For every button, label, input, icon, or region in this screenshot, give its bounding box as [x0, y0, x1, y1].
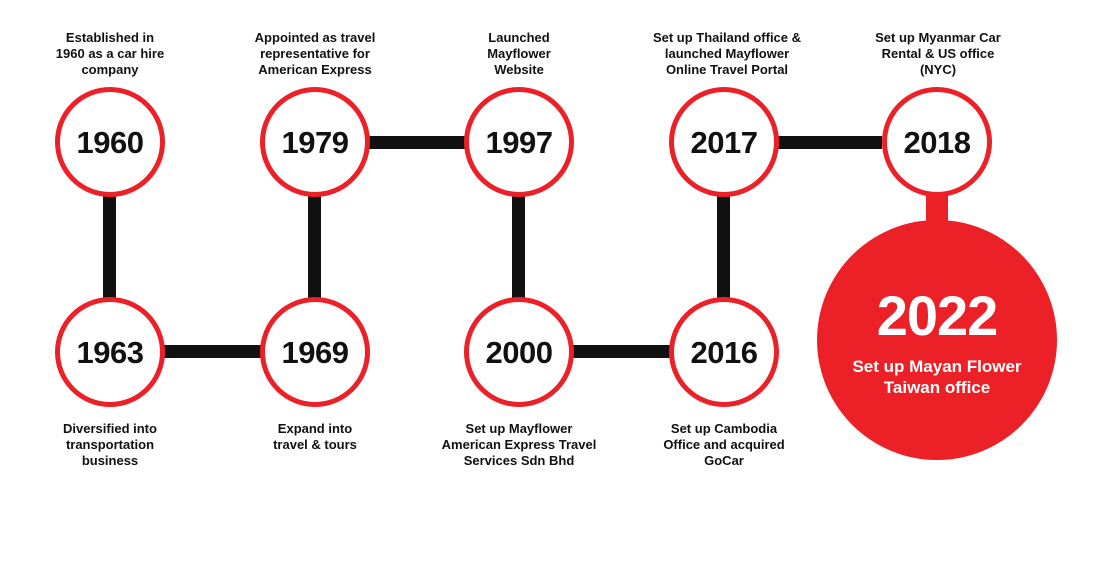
milestone-caption-1960: Established in 1960 as a car hire compan… [25, 30, 195, 78]
timeline-graphic: Established in 1960 as a car hire compan… [0, 0, 1106, 574]
milestone-caption-1979: Appointed as travel representative for A… [228, 30, 402, 78]
milestone-year-1979: 1979 [282, 127, 349, 158]
milestone-node-1979[interactable]: 1979 [260, 87, 370, 197]
milestone-node-1969[interactable]: 1969 [260, 297, 370, 407]
milestone-year-1960: 1960 [77, 127, 144, 158]
milestone-node-2016[interactable]: 2016 [669, 297, 779, 407]
connector-2016-2017 [717, 196, 730, 308]
milestone-year-2000: 2000 [486, 337, 553, 368]
milestone-caption-2016: Set up Cambodia Office and acquired GoCa… [634, 421, 814, 469]
connector-1960-1963 [103, 196, 116, 308]
milestone-caption-1963: Diversified into transportation business [25, 421, 195, 469]
connector-1969-1979 [308, 196, 321, 308]
milestone-node-1997[interactable]: 1997 [464, 87, 574, 197]
milestone-node-2017[interactable]: 2017 [669, 87, 779, 197]
milestone-year-1969: 1969 [282, 337, 349, 368]
milestone-caption-2000: Set up Mayflower American Express Travel… [424, 421, 614, 469]
connector-2017-2018 [776, 136, 882, 149]
milestone-year-2022: 2022 [877, 288, 998, 344]
milestone-node-1963[interactable]: 1963 [55, 297, 165, 407]
connector-1997-2000 [512, 196, 525, 308]
milestone-year-1963: 1963 [77, 337, 144, 368]
connector-1979-1997 [366, 136, 472, 149]
milestone-node-2018[interactable]: 2018 [882, 87, 992, 197]
milestone-caption-1969: Expand into travel & tours [230, 421, 400, 453]
milestone-caption-1997: Launched Mayflower Website [434, 30, 604, 78]
milestone-node-1960[interactable]: 1960 [55, 87, 165, 197]
connector-1963-1969 [162, 345, 266, 358]
milestone-caption-2018: Set up Myanmar Car Rental & US office (N… [848, 30, 1028, 78]
milestone-caption-2022: Set up Mayan Flower Taiwan office [836, 356, 1037, 399]
milestone-node-2022[interactable]: 2022 Set up Mayan Flower Taiwan office [817, 220, 1057, 460]
milestone-year-2018: 2018 [904, 127, 971, 158]
milestone-caption-2017: Set up Thailand office & launched Mayflo… [632, 30, 822, 78]
milestone-year-1997: 1997 [486, 127, 553, 158]
milestone-year-2016: 2016 [691, 337, 758, 368]
milestone-year-2017: 2017 [691, 127, 758, 158]
connector-2000-2016 [571, 345, 677, 358]
milestone-node-2000[interactable]: 2000 [464, 297, 574, 407]
